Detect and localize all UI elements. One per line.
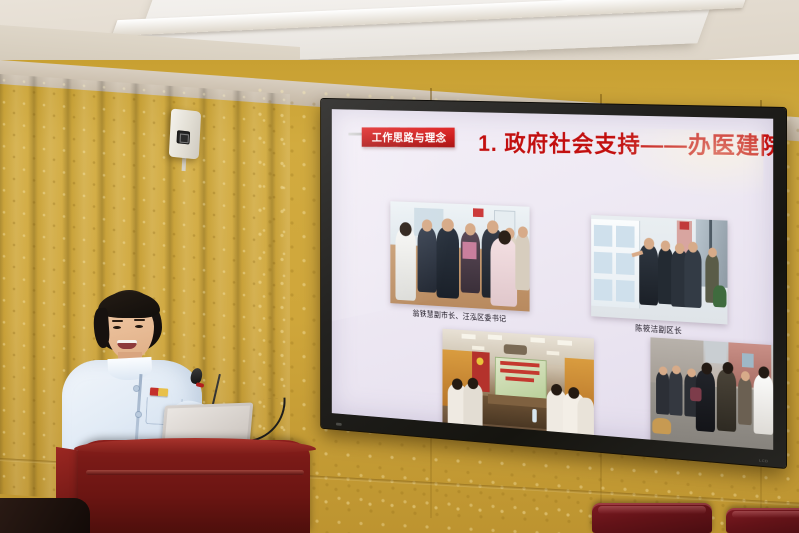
slide-title: 1. 政府社会支持——办医建院	[478, 124, 773, 161]
display-bezel: 工作思路与理念 1. 政府社会支持——办医建院	[321, 99, 786, 468]
slide-photo-grid: 翁铁慧副市长、汪泓区委书记	[343, 157, 759, 449]
presenter-sidelock	[93, 308, 111, 349]
photo-2-scene	[591, 215, 727, 324]
photo-3-scene	[443, 329, 594, 443]
presenter-eye	[135, 325, 143, 328]
photo-1-scene	[390, 201, 529, 311]
slide-photo-1	[390, 201, 529, 311]
speaker-driver-icon	[177, 130, 191, 144]
slide-photo-2	[591, 215, 727, 324]
presenter-coat-button	[134, 386, 139, 391]
ir-receiver-icon	[336, 423, 342, 426]
presenter-name-badge	[150, 387, 169, 396]
display-screen[interactable]: 工作思路与理念 1. 政府社会支持——办医建院	[332, 109, 773, 450]
audience-chair	[726, 508, 799, 533]
audience-chair	[592, 503, 712, 533]
slide-photo-4	[650, 337, 773, 450]
wall-speaker-icon	[169, 108, 201, 159]
presenter-brow	[112, 320, 123, 322]
presentation-display[interactable]: 工作思路与理念 1. 政府社会支持——办医建院	[321, 99, 786, 468]
presenter-coat-button	[136, 412, 141, 417]
foreground-object	[0, 498, 90, 533]
presenter-eye	[113, 326, 121, 329]
slide: 工作思路与理念 1. 政府社会支持——办医建院	[332, 109, 773, 450]
photo-4-scene	[650, 337, 773, 450]
presenter-brow	[134, 319, 145, 321]
slide-section-badge: 工作思路与理念	[362, 127, 455, 147]
conference-hall-scene: 工作思路与理念 1. 政府社会支持——办医建院	[0, 0, 799, 533]
presenter-mouth	[117, 340, 137, 349]
podium-front-edge	[86, 470, 304, 475]
slide-photo-3	[443, 329, 594, 443]
display-brand-logo: LCD	[759, 458, 768, 464]
podium-top-surface	[74, 438, 316, 454]
